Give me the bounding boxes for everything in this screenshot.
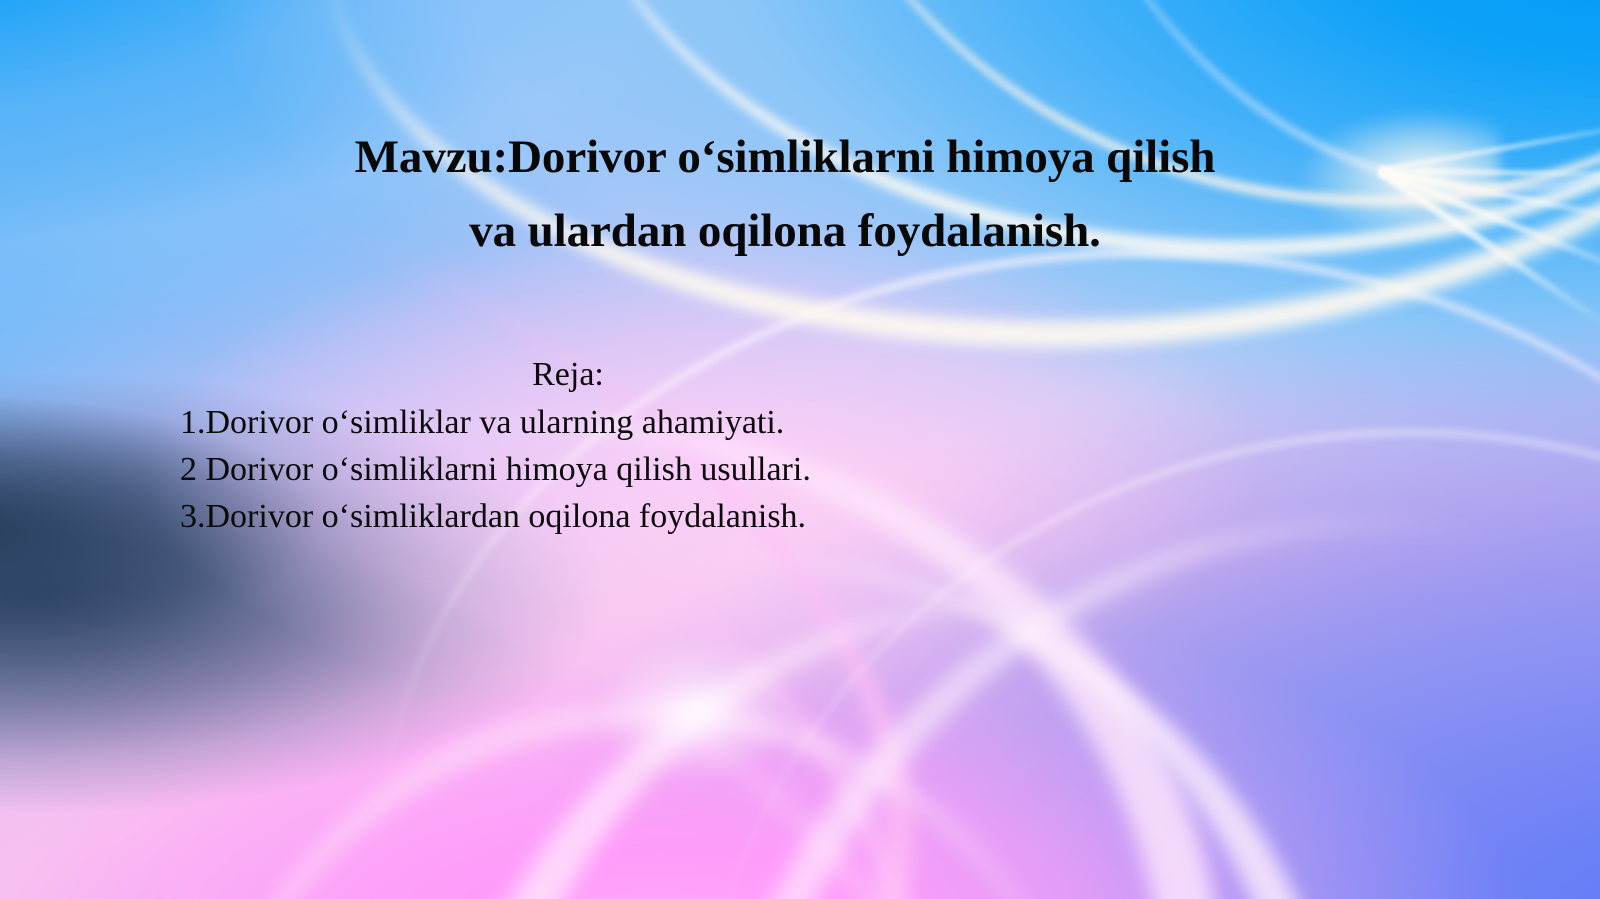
list-item: 1.Dorivor o‘simliklar va ularning ahamiy… bbox=[180, 399, 1080, 446]
slide-title: Mavzu:Dorivor o‘simliklarni himoya qilis… bbox=[200, 120, 1370, 269]
list-item: 3.Dorivor o‘simliklardan oqilona foydala… bbox=[180, 493, 1080, 540]
list-item: 2 Dorivor o‘simliklarni himoya qilish us… bbox=[180, 446, 1080, 493]
plan-heading: Reja: bbox=[180, 353, 956, 397]
slide-text-layer: Mavzu:Dorivor o‘simliklarni himoya qilis… bbox=[0, 0, 1600, 899]
presentation-slide: Mavzu:Dorivor o‘simliklarni himoya qilis… bbox=[0, 0, 1600, 899]
plan-list: 1.Dorivor o‘simliklar va ularning ahamiy… bbox=[180, 399, 1080, 540]
